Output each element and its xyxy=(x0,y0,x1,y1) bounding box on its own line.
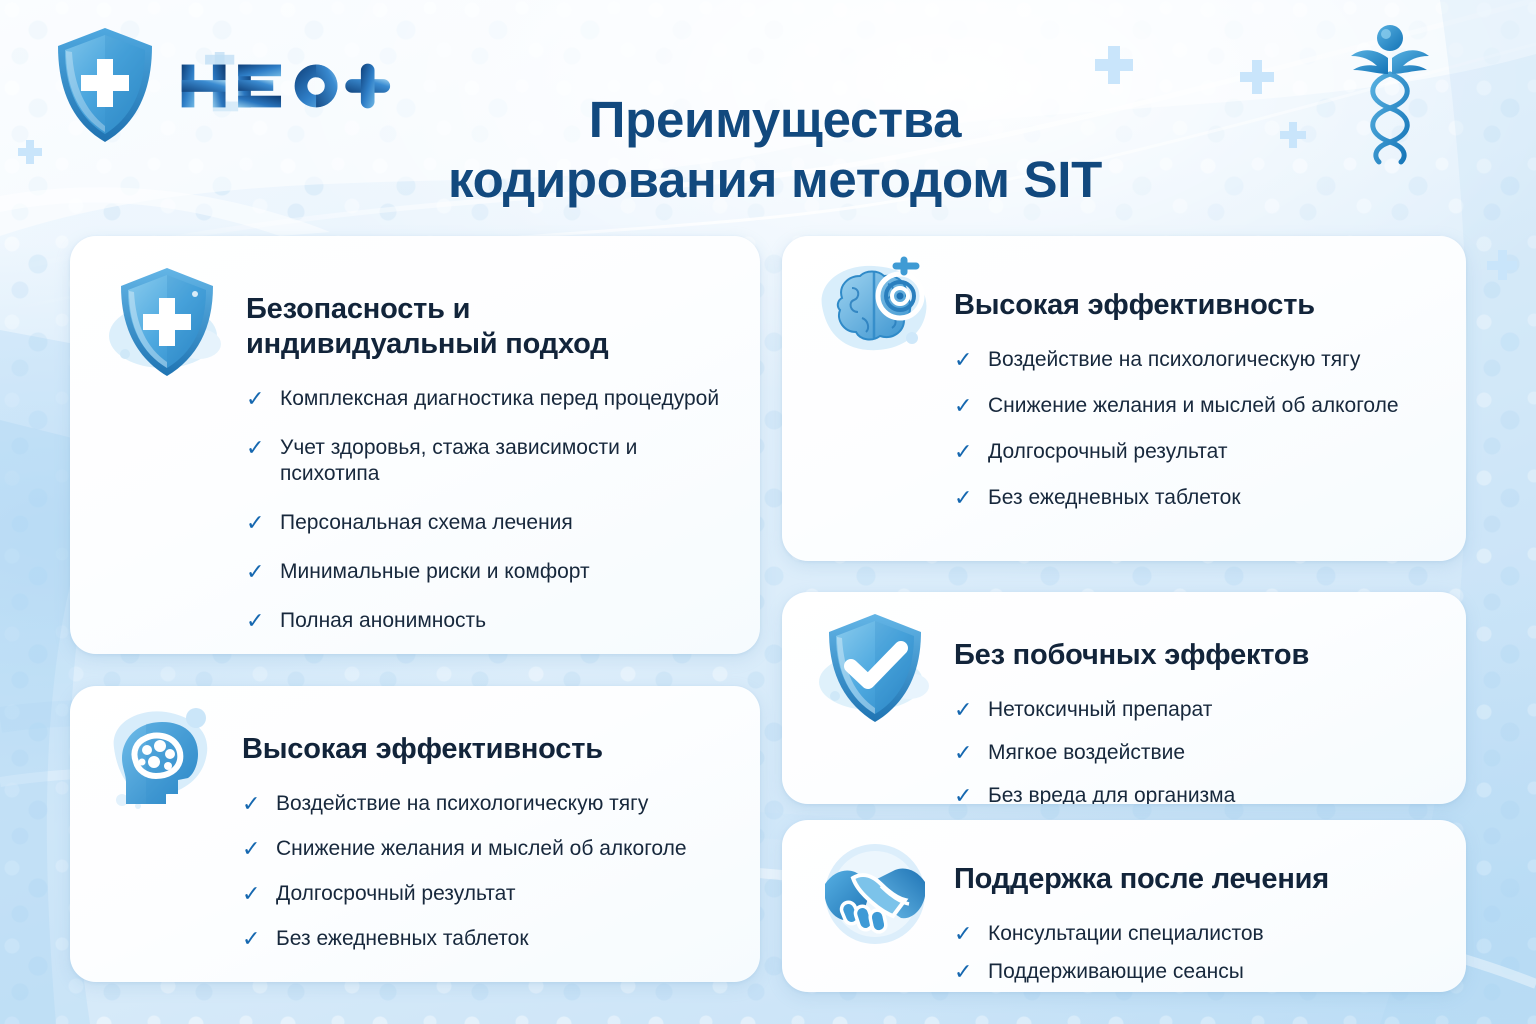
bullet-list: ✓Комплексная диагностика перед процедуро… xyxy=(246,386,720,635)
list-item: ✓Снижение желания и мыслей об алкоголе xyxy=(242,836,720,863)
list-item: ✓Без вреда для организма xyxy=(954,783,1440,804)
list-item-label: Поддерживающие сеансы xyxy=(988,960,1244,983)
card-title: Без побочных эффектов xyxy=(954,638,1440,673)
list-item: ✓Консультации специалистов xyxy=(954,921,1446,948)
card-title: Высокая эффективность xyxy=(242,732,720,767)
card-support-after-treatment: Поддержка после лечения ✓Консультации сп… xyxy=(782,820,1466,992)
list-item-label: Без вреда для организма xyxy=(988,784,1235,804)
check-icon: ✓ xyxy=(242,835,260,863)
list-item-label: Воздействие на психологическую тягу xyxy=(988,348,1360,371)
brain-target-icon xyxy=(812,254,938,370)
list-item: ✓Без ежедневных таблеток xyxy=(242,926,720,953)
shield-cross-icon xyxy=(103,258,231,386)
card-icon-wrapper xyxy=(70,686,238,982)
bullet-list: ✓Консультации специалистов ✓Поддерживающ… xyxy=(954,921,1446,992)
list-item: ✓Воздействие на психологическую тягу xyxy=(954,347,1440,374)
check-icon: ✓ xyxy=(242,790,260,818)
list-item-label: Учет здоровья, стажа зависимости и психо… xyxy=(280,436,637,486)
list-item-label: Персональная схема лечения xyxy=(280,511,573,534)
list-item: ✓Персональная схема лечения xyxy=(246,510,720,537)
bullet-list: ✓Воздействие на психологическую тягу ✓Сн… xyxy=(954,347,1440,512)
list-item: ✓Минимальные риски и комфорт xyxy=(246,559,720,586)
page-title: Преимущества кодирования методом SIT xyxy=(300,90,1250,209)
list-item-label: Нетоксичный препарат xyxy=(988,698,1212,721)
list-item: ✓Мягкое воздействие xyxy=(954,740,1440,767)
list-item-label: Долгосрочный результат xyxy=(276,882,516,905)
page-title-line-2: кодирования методом SIT xyxy=(448,151,1102,208)
card-icon-wrapper xyxy=(782,820,950,992)
card-title: Высокая эффективность xyxy=(954,288,1440,323)
check-icon: ✓ xyxy=(246,607,264,635)
check-icon: ✓ xyxy=(954,438,972,466)
check-icon: ✓ xyxy=(954,696,972,724)
caduceus-icon xyxy=(1345,22,1435,182)
check-icon: ✓ xyxy=(954,920,972,948)
check-icon: ✓ xyxy=(246,509,264,537)
page-header: Преимущества кодирования методом SIT xyxy=(0,0,1536,205)
list-item-label: Полная анонимность xyxy=(280,609,486,632)
check-icon: ✓ xyxy=(246,385,264,413)
card-effectiveness-left: Высокая эффективность ✓Воздействие на пс… xyxy=(70,686,760,982)
check-icon: ✓ xyxy=(954,346,972,374)
list-item: ✓Воздействие на психологическую тягу xyxy=(242,791,720,818)
list-item-label: Воздействие на психологическую тягу xyxy=(276,792,648,815)
card-icon-wrapper xyxy=(70,236,242,654)
head-brain-icon xyxy=(100,700,226,826)
list-item: ✓Учет здоровья, стажа зависимости и псих… xyxy=(246,435,720,489)
list-item-label: Минимальные риски и комфорт xyxy=(280,560,590,583)
check-icon: ✓ xyxy=(246,434,264,462)
check-icon: ✓ xyxy=(246,558,264,586)
shield-cross-logo-icon xyxy=(52,26,158,144)
list-item: ✓Полная анонимность xyxy=(246,608,720,635)
list-item-label: Долгосрочный результат xyxy=(988,440,1228,463)
check-icon: ✓ xyxy=(954,484,972,512)
card-title: Поддержка после лечения xyxy=(954,862,1446,897)
page-title-line-1: Преимущества xyxy=(589,91,961,148)
list-item: ✓Нетоксичный препарат xyxy=(954,697,1440,724)
card-safety: Безопасность и индивидуальный подход ✓Ко… xyxy=(70,236,760,654)
list-item-label: Снижение желания и мыслей об алкоголе xyxy=(276,837,687,860)
list-item-label: Мягкое воздействие xyxy=(988,741,1185,764)
card-icon-wrapper xyxy=(782,236,950,561)
list-item-label: Без ежедневных таблеток xyxy=(276,927,529,950)
list-item-label: Комплексная диагностика перед процедурой xyxy=(280,387,719,410)
bullet-list: ✓Нетоксичный препарат ✓Мягкое воздействи… xyxy=(954,697,1440,804)
list-item: ✓Снижение желания и мыслей об алкоголе xyxy=(954,393,1440,420)
check-icon: ✓ xyxy=(954,739,972,767)
card-title: Безопасность и индивидуальный подход xyxy=(246,292,720,362)
list-item-label: Консультации специалистов xyxy=(988,922,1264,945)
card-effectiveness-right: Высокая эффективность ✓Воздействие на пс… xyxy=(782,236,1466,561)
check-icon: ✓ xyxy=(954,392,972,420)
list-item: ✓Поддерживающие сеансы xyxy=(954,959,1446,986)
check-icon: ✓ xyxy=(954,782,972,804)
card-no-side-effects: Без побочных эффектов ✓Нетоксичный препа… xyxy=(782,592,1466,804)
bullet-list: ✓Воздействие на психологическую тягу ✓Сн… xyxy=(242,791,720,953)
check-icon: ✓ xyxy=(954,958,972,986)
check-icon: ✓ xyxy=(242,880,260,908)
shield-check-icon xyxy=(813,606,937,730)
list-item-label: Без ежедневных таблеток xyxy=(988,486,1241,509)
list-item-label: Снижение желания и мыслей об алкоголе xyxy=(988,394,1399,417)
check-icon: ✓ xyxy=(242,925,260,953)
list-item: ✓Долгосрочный результат xyxy=(954,439,1440,466)
list-item: ✓Комплексная диагностика перед процедуро… xyxy=(246,386,720,413)
list-item: ✓Долгосрочный результат xyxy=(242,881,720,908)
card-icon-wrapper xyxy=(782,592,950,804)
list-item: ✓Без ежедневных таблеток xyxy=(954,485,1440,512)
handshake-icon xyxy=(815,834,935,954)
